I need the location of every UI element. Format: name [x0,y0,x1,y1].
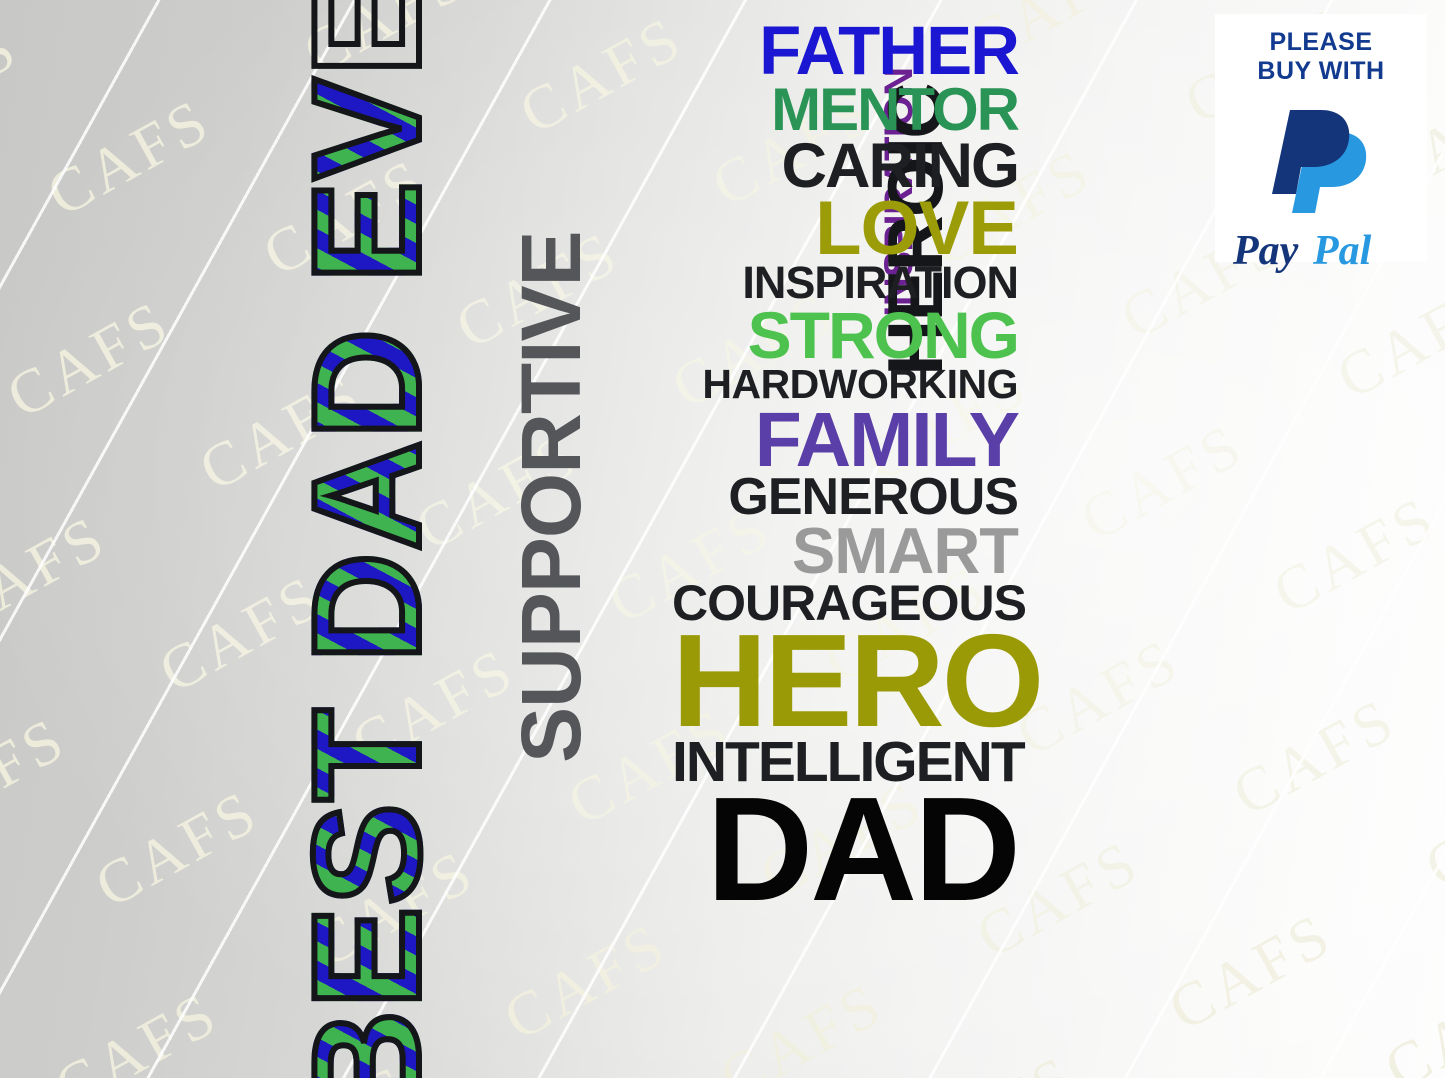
paypal-logo-icon [1262,98,1380,221]
paypal-badge[interactable]: PLEASE BUY WITH Pay Pal [1215,14,1427,262]
paypal-badge-line1: PLEASE [1269,28,1372,57]
word-family: FAMILY [672,408,1018,473]
paypal-wordmark-pal: Pal [1312,228,1372,274]
word-smart: SMART [672,524,1018,579]
vertical-striped-title: BEST DAD EVER [291,80,443,1078]
word-mentor: MENTOR [672,85,1018,135]
paypal-wordmark: Pay Pal [1233,227,1409,280]
word-inspiration: INSPIRATION [672,264,1018,302]
word-stack: FATHER MENTOR CARING LOVE INSPIRATION ST… [672,22,1018,913]
paypal-badge-line2: BUY WITH [1257,57,1384,86]
design-preview-canvas: CAFS CAFS CAFS CAFS CAFS CAFS CAFS CAFS … [0,0,1445,1078]
word-hero: HERO [672,626,1018,737]
word-father: FATHER [672,22,1018,80]
paypal-wordmark-pay: Pay [1233,228,1299,274]
word-love: LOVE [672,197,1018,261]
word-strong: STRONG [672,308,1018,363]
vertical-word-supportive: SUPPORTIVE [517,231,586,762]
word-dad: DAD [672,788,1018,912]
